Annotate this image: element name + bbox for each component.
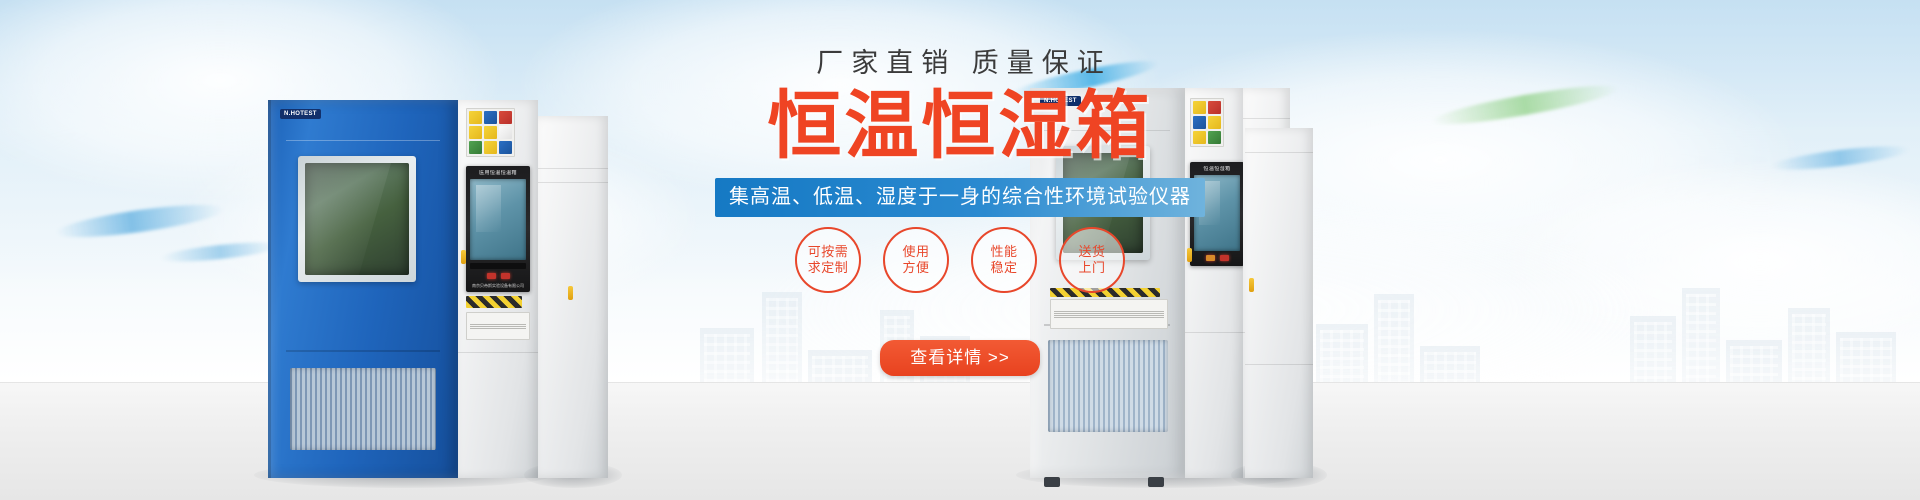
product-image-left: N.HOTEST 医用恒温恒温箱 (268, 100, 538, 478)
product-image-left-secondary (538, 116, 608, 478)
badge-line-2: 稳定 (990, 260, 1017, 276)
feature-badge-delivery[interactable]: 送货 上门 (1059, 227, 1125, 293)
badge-line-2: 方便 (902, 260, 929, 276)
feature-badge-stable[interactable]: 性能 稳定 (971, 227, 1037, 293)
condenser-grille (290, 368, 436, 450)
product-image-right-secondary (1245, 128, 1313, 478)
feature-badge-custom[interactable]: 可按需 求定制 (795, 227, 861, 293)
hazard-stripe (466, 296, 522, 308)
badge-line-2: 上门 (1078, 260, 1105, 276)
cabinet-side-panel: 医用恒温恒温箱 南京贝帝斯实验设备有限公司 (458, 100, 538, 478)
feature-badge-easy-use[interactable]: 使用 方便 (883, 227, 949, 293)
cabinet-body-blue: N.HOTEST (268, 100, 458, 478)
spec-nameplate (466, 312, 530, 340)
panel-button-strip[interactable] (470, 263, 526, 269)
headline: 恒温恒湿箱 (690, 84, 1230, 168)
panel-footer-text: 南京贝帝斯实验设备有限公司 (470, 283, 526, 288)
led-heat-icon (487, 273, 496, 279)
subtitle-bar: 集高温、低温、湿度于一身的综合性环境试验仪器 (715, 178, 1205, 217)
badge-line-1: 送货 (1078, 244, 1105, 260)
chamber-window (298, 156, 416, 282)
control-panel-left[interactable]: 医用恒温恒温箱 南京贝帝斯实验设备有限公司 (466, 166, 530, 292)
hero-banner: N.HOTEST 医用恒温恒温箱 (0, 0, 1920, 500)
swoosh-accent (160, 239, 281, 265)
swoosh-accent (54, 198, 225, 243)
swoosh-accent (1770, 142, 1911, 175)
spec-nameplate (1050, 299, 1168, 329)
led-cool-icon (501, 273, 510, 279)
badge-line-1: 可按需 (808, 244, 849, 260)
brand-logo-left: N.HOTEST (280, 109, 321, 119)
badge-line-1: 使用 (902, 244, 929, 260)
window-glass (305, 163, 409, 275)
swoosh-accent (1430, 79, 1621, 132)
panel-caption: 医用恒温恒温箱 (470, 170, 526, 176)
badge-line-2: 求定制 (808, 260, 849, 276)
cta-row: 查看详情 >> (690, 340, 1230, 376)
feature-badge-row: 可按需 求定制 使用 方便 性能 稳定 送货 上门 (690, 227, 1230, 293)
panel-indicator-leds (470, 272, 526, 280)
warning-label-block (466, 108, 515, 157)
copy-block: 厂家直销 质量保证 恒温恒湿箱 集高温、低温、湿度于一身的综合性环境试验仪器 (690, 46, 1230, 217)
tagline: 厂家直销 质量保证 (690, 46, 1230, 80)
cloud-shape (1500, 160, 1920, 360)
view-details-button[interactable]: 查看详情 >> (880, 340, 1040, 376)
panel-display-screen[interactable] (470, 179, 526, 260)
badge-line-1: 性能 (990, 244, 1017, 260)
